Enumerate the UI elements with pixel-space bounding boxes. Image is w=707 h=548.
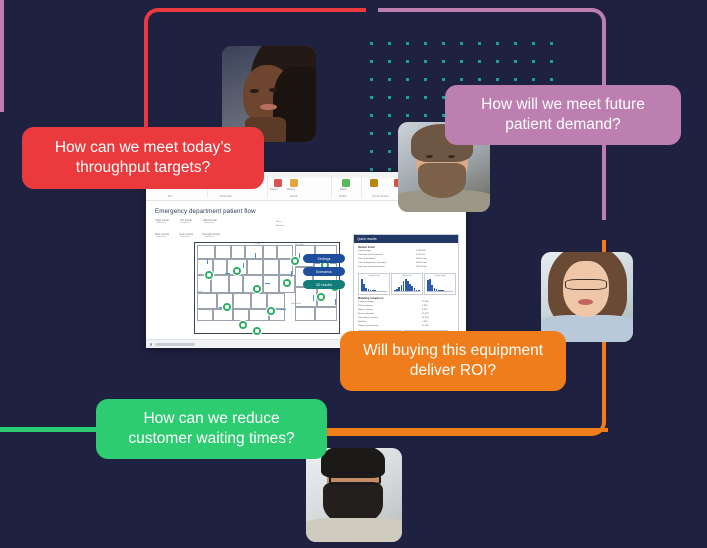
- scenarios-button[interactable]: Scenarios: [303, 267, 345, 276]
- 3d-results-button[interactable]: 3D results: [303, 280, 345, 289]
- settings-button[interactable]: Settings: [303, 254, 345, 263]
- model-action-buttons[interactable]: Settings Scenarios 3D results: [303, 254, 345, 293]
- question-bubble-demand[interactable]: How will we meet future patient demand?: [445, 85, 681, 145]
- results-chart[interactable]: Queue length: [424, 273, 456, 295]
- ribbon-group-results[interactable]: Export Report Results: [268, 175, 332, 198]
- question-bubble-waiting[interactable]: How can we reduce customer waiting times…: [96, 399, 327, 459]
- status-indicator-icon: [150, 343, 153, 346]
- vehicle-legend-item[interactable]: Acute arrivals: [178, 234, 194, 236]
- hero-illustration: Run Model tools Export Report Results Sh…: [0, 0, 707, 548]
- process-analyzer-icon[interactable]: [370, 179, 378, 187]
- connector-line-purple-vertical: [0, 0, 4, 112]
- avatar-man-glasses: [306, 448, 402, 542]
- model-canvas[interactable]: Triage arrivals ICU growth Ward arrivals…: [146, 218, 466, 340]
- quick-results-title: Quick results: [354, 235, 458, 243]
- vehicle-legend-item[interactable]: ICU growth: [178, 220, 194, 222]
- vehicle-legend-item[interactable]: Ward arrivals: [202, 220, 218, 222]
- question-bubble-roi[interactable]: Will buying this equipment deliver ROI?: [340, 331, 566, 391]
- avatar-woman-glasses: [541, 252, 633, 342]
- vehicle-legend-item[interactable]: Triage arrivals: [154, 220, 170, 222]
- share-icon[interactable]: [342, 179, 350, 187]
- app-document-title: Emergency department patient flow: [155, 208, 256, 215]
- status-progress: [155, 343, 195, 347]
- ribbon-group-publish[interactable]: Share Publish: [332, 175, 362, 198]
- question-bubble-throughput[interactable]: How can we meet today’s throughput targe…: [22, 127, 264, 189]
- results-chart[interactable]: Arrival rate: [391, 273, 423, 295]
- results-chart[interactable]: Length of stay: [358, 273, 390, 295]
- vehicle-legend-item[interactable]: Overnight arrivals: [202, 234, 218, 236]
- export-results-icon[interactable]: [274, 179, 282, 187]
- report-icon[interactable]: [290, 179, 298, 187]
- vehicle-legend-item[interactable]: Minor arrivals: [154, 234, 170, 236]
